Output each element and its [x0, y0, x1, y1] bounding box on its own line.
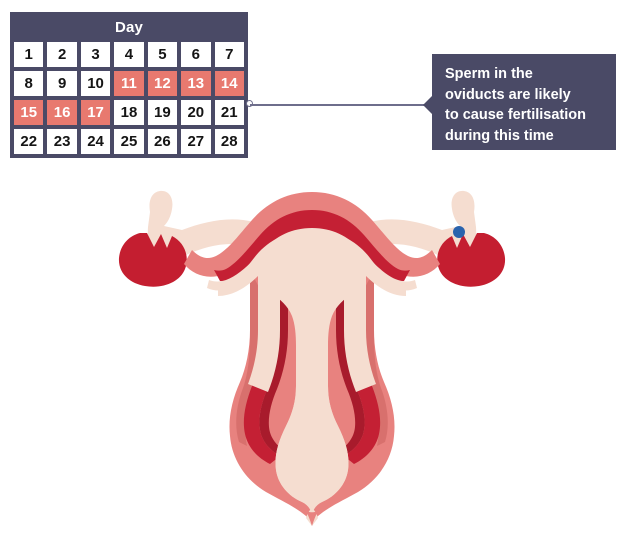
- day-cell-14[interactable]: 14: [213, 69, 246, 98]
- day-cell-1[interactable]: 1: [12, 40, 45, 69]
- day-cell-4[interactable]: 4: [112, 40, 145, 69]
- calendar-row-1: 1 2 3 4 5 6 7: [12, 40, 246, 69]
- day-cell-11[interactable]: 11: [112, 69, 145, 98]
- day-cell-25[interactable]: 25: [112, 127, 145, 156]
- day-cell-17[interactable]: 17: [79, 98, 112, 127]
- calendar-row-2: 8 9 10 11 12 13 14: [12, 69, 246, 98]
- day-cell-24[interactable]: 24: [79, 127, 112, 156]
- day-cell-20[interactable]: 20: [179, 98, 212, 127]
- day-cell-18[interactable]: 18: [112, 98, 145, 127]
- reproductive-system-diagram: [0, 180, 624, 558]
- day-cell-27[interactable]: 27: [179, 127, 212, 156]
- day-cell-15[interactable]: 15: [12, 98, 45, 127]
- callout-box: Sperm in the oviducts are likely to caus…: [432, 54, 616, 150]
- day-cell-6[interactable]: 6: [179, 40, 212, 69]
- calendar-row-4: 22 23 24 25 26 27 28: [12, 127, 246, 156]
- day-cell-12[interactable]: 12: [146, 69, 179, 98]
- day-cell-2[interactable]: 2: [45, 40, 78, 69]
- callout-text: Sperm in the oviducts are likely to caus…: [445, 64, 606, 146]
- day-cell-22[interactable]: 22: [12, 127, 45, 156]
- day-calendar: Day 1 2 3 4 5 6 7 8 9 10 11 12 13 14 15 …: [10, 12, 248, 158]
- day-cell-3[interactable]: 3: [79, 40, 112, 69]
- day-cell-28[interactable]: 28: [213, 127, 246, 156]
- day-cell-8[interactable]: 8: [12, 69, 45, 98]
- day-cell-5[interactable]: 5: [146, 40, 179, 69]
- calendar-header-label: Day: [12, 14, 246, 40]
- day-cell-16[interactable]: 16: [45, 98, 78, 127]
- day-cell-13[interactable]: 13: [179, 69, 212, 98]
- fertilisation-marker-icon: [453, 226, 465, 238]
- day-cell-19[interactable]: 19: [146, 98, 179, 127]
- calendar-header-row: Day: [12, 14, 246, 40]
- day-cell-23[interactable]: 23: [45, 127, 78, 156]
- day-cell-21[interactable]: 21: [213, 98, 246, 127]
- calendar-row-3: 15 16 17 18 19 20 21: [12, 98, 246, 127]
- day-cell-26[interactable]: 26: [146, 127, 179, 156]
- leader-line: [250, 104, 424, 106]
- day-cell-9[interactable]: 9: [45, 69, 78, 98]
- day-cell-10[interactable]: 10: [79, 69, 112, 98]
- day-cell-7[interactable]: 7: [213, 40, 246, 69]
